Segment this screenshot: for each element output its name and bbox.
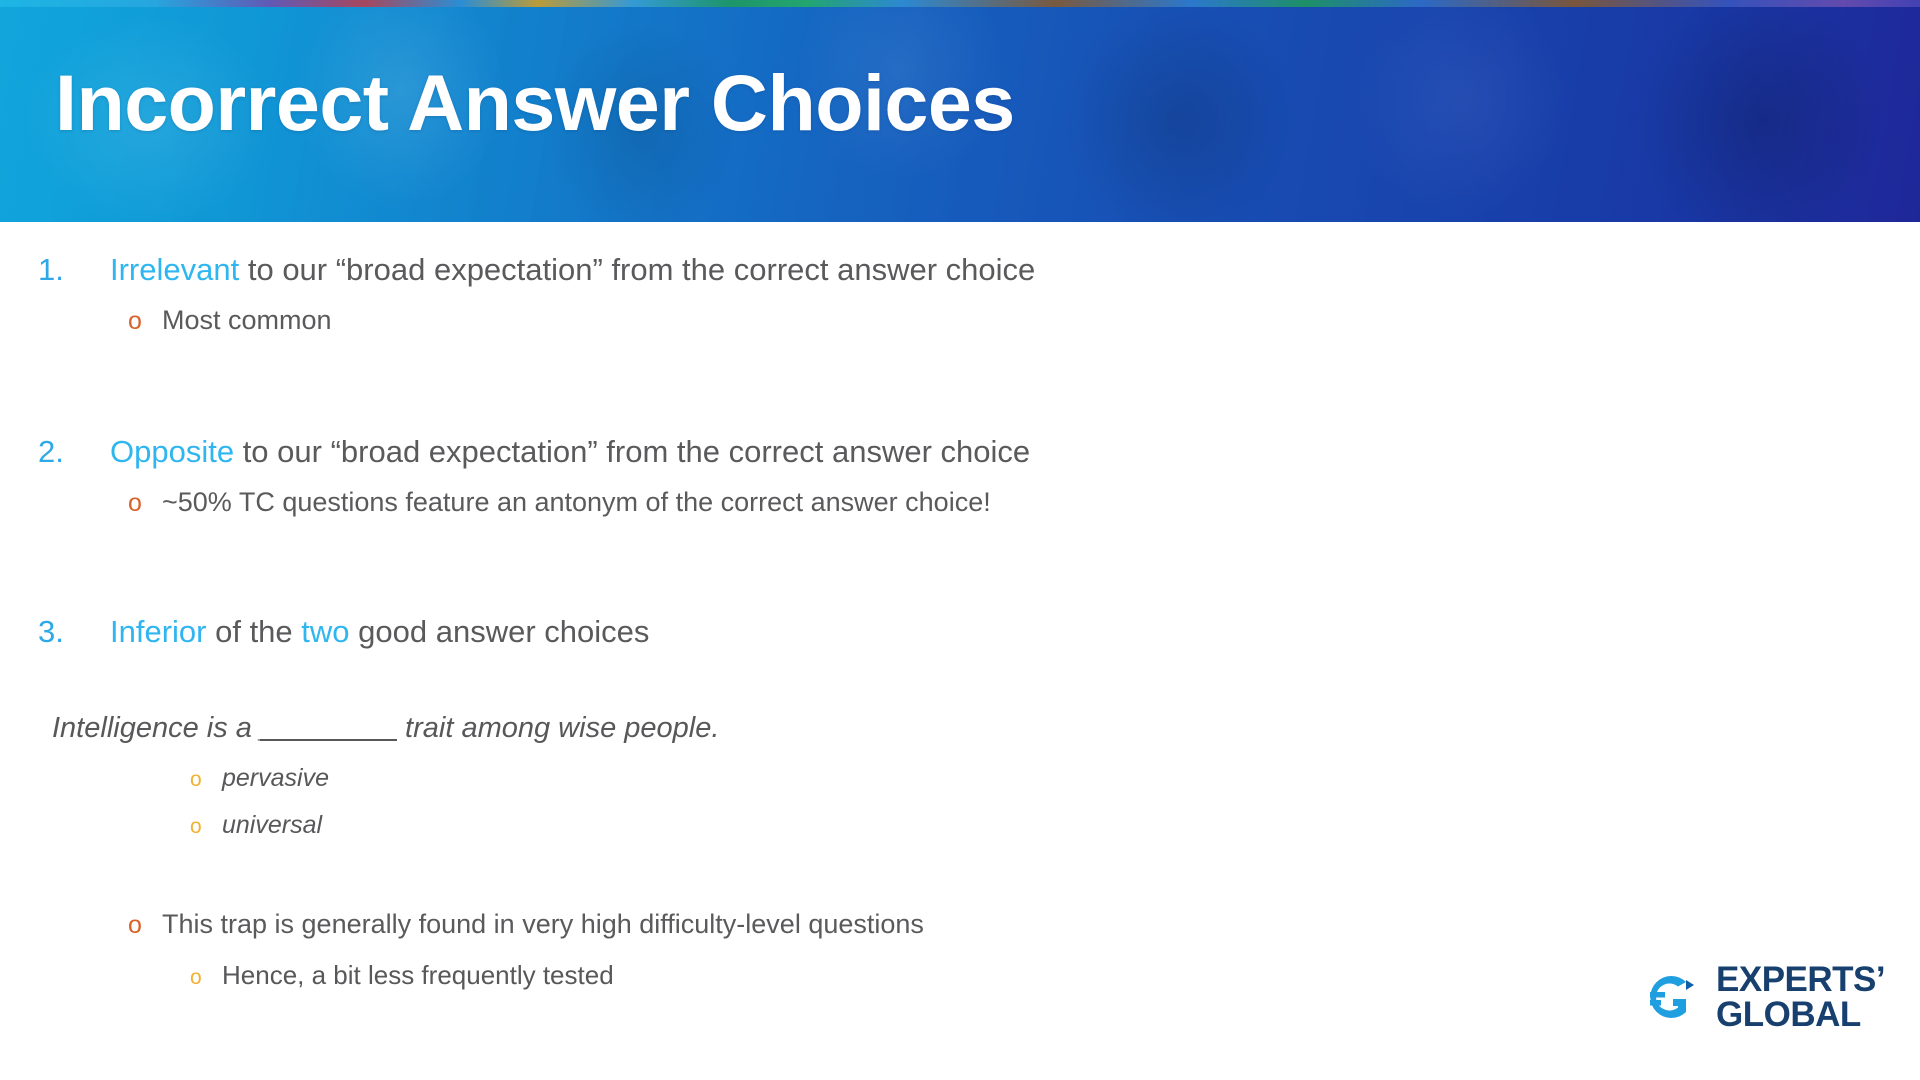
closing-bullet-2-text: Hence, a bit less frequently tested: [222, 960, 614, 991]
logo-line-2: GLOBAL: [1716, 997, 1885, 1032]
bullet-circle-icon: o: [128, 913, 162, 938]
list-item-1-sub-1: o Most common: [128, 305, 332, 336]
example-option-1-text: pervasive: [222, 764, 329, 793]
list-item-2: 2. Opposite to our “broad expectation” f…: [38, 434, 1030, 470]
page-title: Incorrect Answer Choices: [55, 62, 1015, 145]
list-item-3-highlight: Inferior: [110, 614, 206, 649]
stem-after: trait among wise people.: [397, 712, 719, 744]
list-item-3-highlight-2: two: [301, 614, 349, 649]
list-item-1: 1. Irrelevant to our “broad expectation”…: [38, 252, 1035, 288]
bullet-circle-icon: o: [190, 967, 222, 988]
list-item-2-text: Opposite to our “broad expectation” from…: [110, 434, 1030, 470]
banner-top-color-strip: [0, 0, 1920, 7]
list-item-2-sub-1: o ~50% TC questions feature an antonym o…: [128, 487, 991, 518]
logo-line-1: EXPERTS’: [1716, 962, 1885, 997]
list-item-3-mid: of the: [206, 614, 301, 649]
closing-bullet-1: o This trap is generally found in very h…: [128, 909, 924, 940]
header-banner: Incorrect Answer Choices: [0, 0, 1920, 222]
list-item-3-rest: good answer choices: [350, 614, 650, 649]
example-option-2-text: universal: [222, 811, 322, 840]
stem-blank: ________: [260, 712, 397, 744]
slide-body: 1. Irrelevant to our “broad expectation”…: [0, 222, 1920, 1080]
list-item-1-highlight: Irrelevant: [110, 252, 239, 287]
bullet-circle-icon: o: [190, 816, 222, 837]
list-item-2-number: 2.: [38, 434, 110, 470]
experts-global-logo: EXPERTS’ GLOBAL: [1642, 962, 1885, 1032]
stem-before: Intelligence is a: [52, 712, 260, 744]
list-item-3-text: Inferior of the two good answer choices: [110, 614, 649, 650]
slide: Incorrect Answer Choices 1. Irrelevant t…: [0, 0, 1920, 1080]
list-item-1-sub-1-text: Most common: [162, 305, 332, 336]
example-option-2: o universal: [190, 811, 322, 840]
list-item-1-text: Irrelevant to our “broad expectation” fr…: [110, 252, 1035, 288]
list-item-3-number: 3.: [38, 614, 110, 650]
bullet-circle-icon: o: [128, 491, 162, 516]
experts-global-g-mark-icon: [1642, 966, 1704, 1028]
closing-bullet-1-text: This trap is generally found in very hig…: [162, 909, 924, 940]
list-item-3: 3. Inferior of the two good answer choic…: [38, 614, 649, 650]
bullet-circle-icon: o: [190, 769, 222, 790]
list-item-1-number: 1.: [38, 252, 110, 288]
example-question-stem: Intelligence is a ________ trait among w…: [52, 712, 719, 745]
logo-wordmark: EXPERTS’ GLOBAL: [1716, 962, 1885, 1032]
closing-bullet-2: o Hence, a bit less frequently tested: [190, 960, 614, 991]
bullet-circle-icon: o: [128, 309, 162, 334]
list-item-1-rest: to our “broad expectation” from the corr…: [239, 252, 1035, 287]
list-item-2-highlight: Opposite: [110, 434, 234, 469]
list-item-2-sub-1-text: ~50% TC questions feature an antonym of …: [162, 487, 991, 518]
list-item-2-rest: to our “broad expectation” from the corr…: [234, 434, 1030, 469]
example-option-1: o pervasive: [190, 764, 329, 793]
